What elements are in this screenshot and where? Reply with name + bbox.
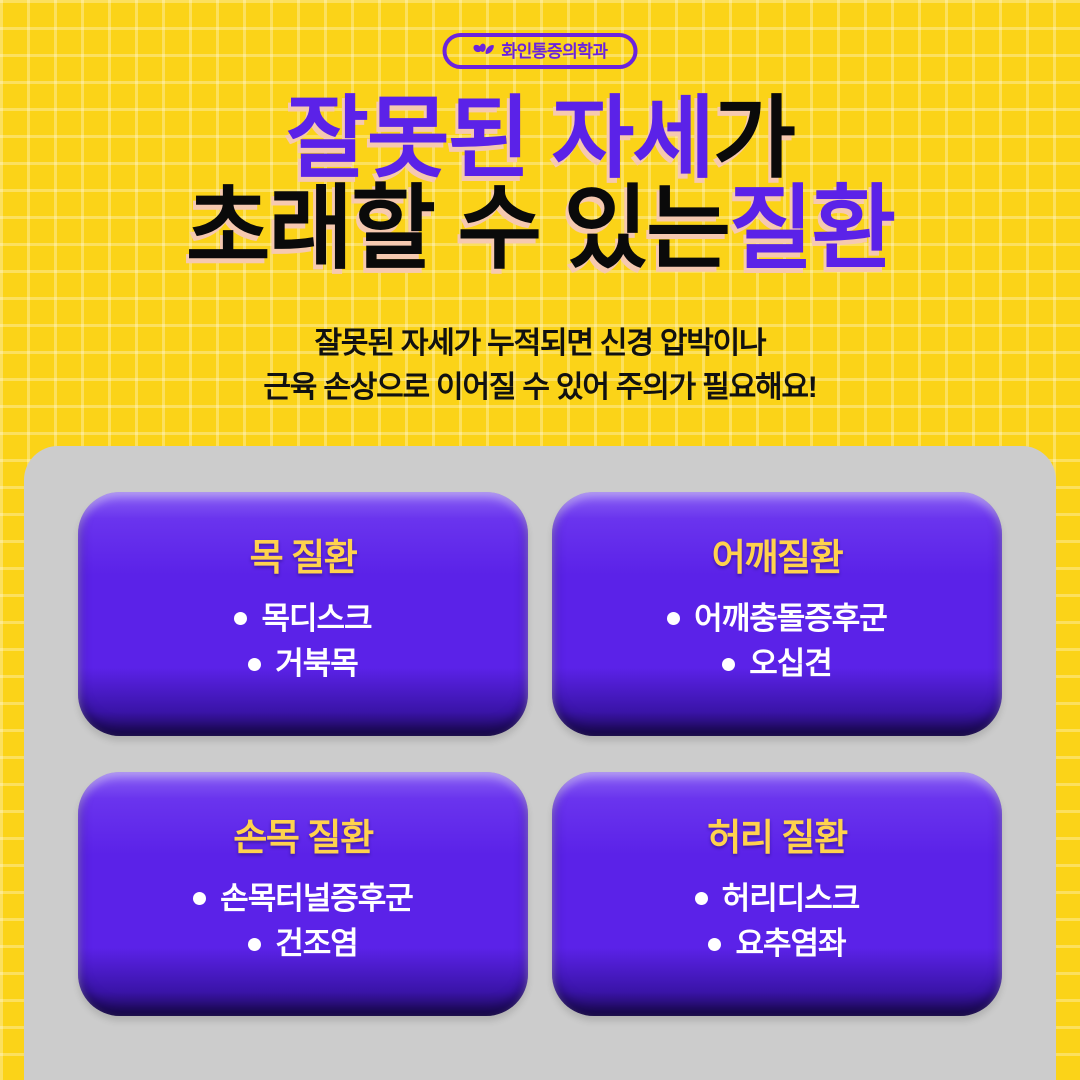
disease-card-shoulder[interactable]: 어깨질환 어깨충돌증후군 오십견 (552, 492, 1002, 736)
list-item: 오십견 (576, 646, 978, 682)
card-title: 허리 질환 (576, 818, 978, 859)
card-title: 목 질환 (102, 538, 504, 579)
card-item-list: 목디스크 거북목 (102, 601, 504, 682)
bullet-icon (248, 658, 261, 671)
page-title: 잘못된 자세가 초래할 수 있는질환 (0, 96, 1080, 275)
subtitle: 잘못된 자세가 누적되면 신경 압박이나 근육 손상으로 이어질 수 있어 주의… (0, 322, 1080, 411)
clinic-name-label: 화인통증의학과 (502, 43, 608, 60)
disease-card-neck[interactable]: 목 질환 목디스크 거북목 (78, 492, 528, 736)
list-item: 허리디스크 (576, 881, 978, 917)
bullet-icon (193, 892, 206, 905)
list-item: 요추염좌 (576, 926, 978, 962)
bullet-icon (695, 892, 708, 905)
list-item: 손목터널증후군 (102, 881, 504, 917)
card-title: 어깨질환 (576, 538, 978, 579)
headline-line-1: 잘못된 자세가 (0, 96, 1080, 183)
list-item-label: 손목터널증후군 (220, 881, 413, 917)
disease-card-grid: 목 질환 목디스크 거북목 어깨질환 어깨충돌증후군 (78, 492, 1002, 1016)
list-item-label: 허리디스크 (722, 881, 860, 917)
bullet-icon (708, 938, 721, 951)
card-item-list: 허리디스크 요추염좌 (576, 881, 978, 962)
disease-card-lower-back[interactable]: 허리 질환 허리디스크 요추염좌 (552, 772, 1002, 1016)
leaf-sprout-icon (473, 43, 495, 59)
brand-badge: 화인통증의학과 (443, 33, 638, 69)
card-item-list: 어깨충돌증후군 오십견 (576, 601, 978, 682)
list-item: 어깨충돌증후군 (576, 601, 978, 637)
list-item-label: 거북목 (275, 646, 358, 682)
list-item-label: 어깨충돌증후군 (694, 601, 887, 637)
poster-canvas: 화인통증의학과 잘못된 자세가 초래할 수 있는질환 잘못된 자세가 누적되면 … (0, 0, 1080, 1080)
list-item-label: 오십견 (749, 646, 832, 682)
disease-card-wrist[interactable]: 손목 질환 손목터널증후군 건조염 (78, 772, 528, 1016)
list-item: 거북목 (102, 646, 504, 682)
headline-line-2: 초래할 수 있는질환 (0, 185, 1080, 274)
list-item-label: 목디스크 (261, 601, 371, 637)
list-item-label: 건조염 (275, 926, 358, 962)
card-item-list: 손목터널증후군 건조염 (102, 881, 504, 962)
bullet-icon (234, 612, 247, 625)
subtitle-line-2: 근육 손상으로 이어질 수 있어 주의가 필요해요! (0, 366, 1080, 410)
headline-line-1-purple: 잘못된 자세 (286, 89, 713, 189)
bullet-icon (722, 658, 735, 671)
list-item: 목디스크 (102, 601, 504, 637)
headline-line-2-black: 초래할 수 있는 (186, 178, 729, 280)
card-title: 손목 질환 (102, 818, 504, 859)
subtitle-line-1: 잘못된 자세가 누적되면 신경 압박이나 (0, 322, 1080, 366)
list-item-label: 요추염좌 (735, 926, 845, 962)
headline-line-2-purple: 질환 (729, 178, 894, 280)
headline-line-1-black: 가 (713, 89, 794, 189)
list-item: 건조염 (102, 926, 504, 962)
bullet-icon (667, 612, 680, 625)
bullet-icon (248, 938, 261, 951)
